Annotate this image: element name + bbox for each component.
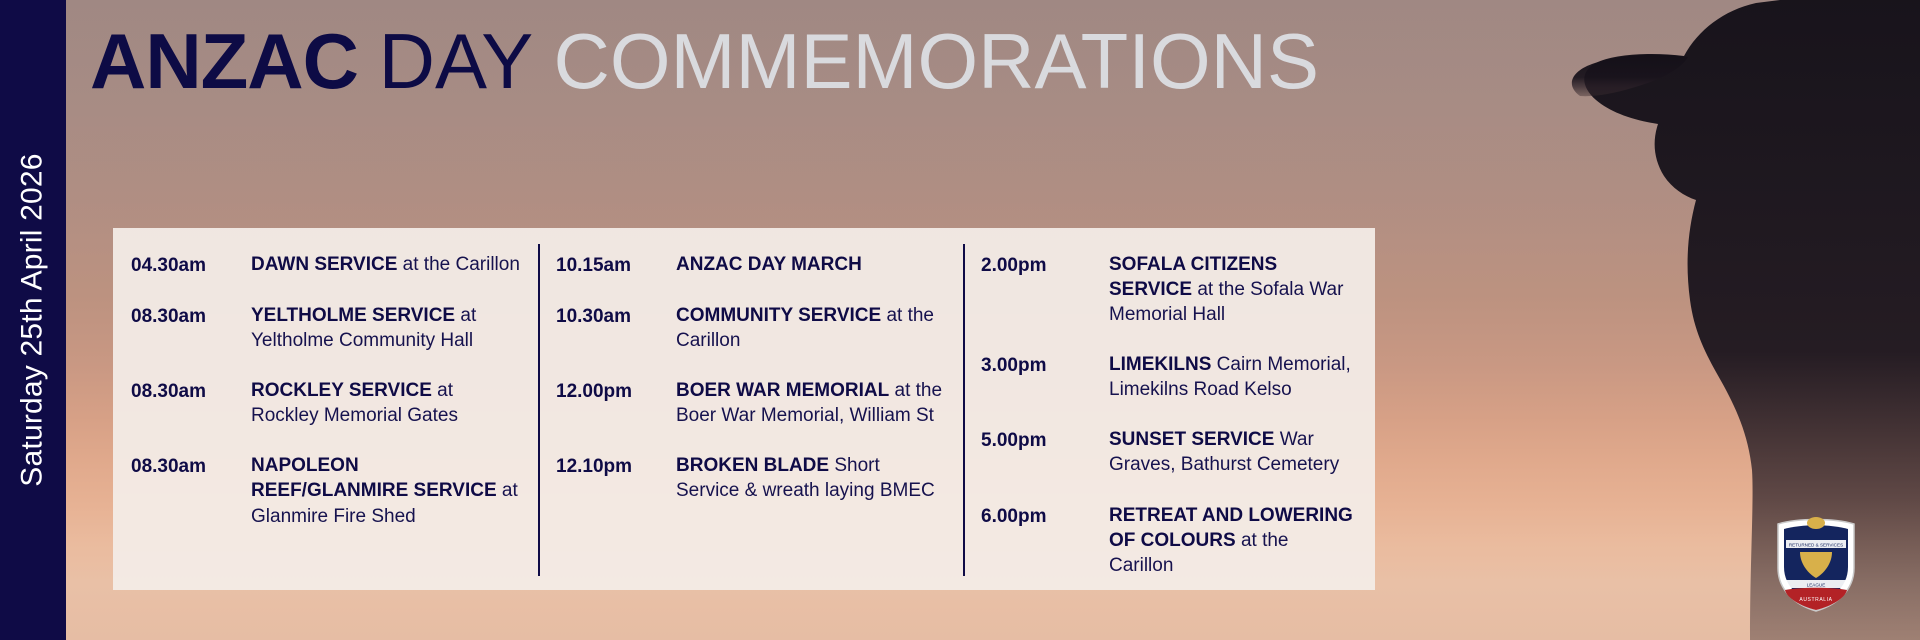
row-description: NAPOLEON REEF/GLANMIRE SERVICE at Glanmi… xyxy=(251,453,520,528)
schedule-row: 3.00pm LIMEKILNS Cairn Memorial, Limekil… xyxy=(981,352,1357,402)
title-commemorations: COMMEMORATIONS xyxy=(554,17,1320,105)
badge-crown-icon xyxy=(1807,517,1825,529)
row-title: BOER WAR MEMORIAL xyxy=(676,380,889,401)
schedule-row: 6.00pm RETREAT AND LOWERING OF COLOURS a… xyxy=(981,503,1357,578)
schedule-row: 08.30am NAPOLEON REEF/GLANMIRE SERVICE a… xyxy=(131,453,520,528)
schedule-column-2: 10.15am ANZAC DAY MARCH 10.30am COMMUNIT… xyxy=(538,252,963,574)
schedule-row: 5.00pm SUNSET SERVICE War Graves, Bathur… xyxy=(981,427,1357,477)
schedule-column-1: 04.30am DAWN SERVICE at the Carillon 08.… xyxy=(113,252,538,574)
row-detail: at the Carillon xyxy=(397,254,520,275)
schedule-row: 10.30am COMMUNITY SERVICE at the Carillo… xyxy=(556,303,945,353)
date-strip: Saturday 25th April 2026 xyxy=(0,0,66,640)
row-title: RETREAT AND LOWERING OF COLOURS xyxy=(1109,505,1353,551)
schedule-row: 10.15am ANZAC DAY MARCH xyxy=(556,252,945,278)
row-description: SUNSET SERVICE War Graves, Bathurst Ceme… xyxy=(1109,427,1357,477)
row-title: BROKEN BLADE xyxy=(676,455,829,476)
title-day: DAY xyxy=(379,17,554,105)
row-description: ANZAC DAY MARCH xyxy=(676,252,945,278)
row-description: DAWN SERVICE at the Carillon xyxy=(251,252,520,278)
row-title: YELTHOLME SERVICE xyxy=(251,305,455,326)
row-description: LIMEKILNS Cairn Memorial, Limekilns Road… xyxy=(1109,352,1357,402)
date-label: Saturday 25th April 2026 xyxy=(16,153,50,486)
row-time: 5.00pm xyxy=(981,427,1109,477)
row-description: RETREAT AND LOWERING OF COLOURS at the C… xyxy=(1109,503,1357,578)
row-time: 10.15am xyxy=(556,252,676,278)
badge-top-text: RETURNED & SERVICES xyxy=(1789,542,1843,547)
row-description: BOER WAR MEMORIAL at the Boer War Memori… xyxy=(676,378,945,428)
schedule-row: 12.10pm BROKEN BLADE Short Service & wre… xyxy=(556,453,945,503)
row-time: 08.30am xyxy=(131,378,251,428)
schedule-row: 04.30am DAWN SERVICE at the Carillon xyxy=(131,252,520,278)
row-time: 6.00pm xyxy=(981,503,1109,578)
row-title: ROCKLEY SERVICE xyxy=(251,380,432,401)
row-title: COMMUNITY SERVICE xyxy=(676,305,881,326)
row-title: SUNSET SERVICE xyxy=(1109,429,1274,450)
row-time: 12.10pm xyxy=(556,453,676,503)
column-divider xyxy=(538,244,540,576)
row-title: DAWN SERVICE xyxy=(251,254,397,275)
row-time: 08.30am xyxy=(131,303,251,353)
row-title: ANZAC DAY MARCH xyxy=(676,254,862,275)
row-title: LIMEKILNS xyxy=(1109,354,1211,375)
badge-bottom-text: AUSTRALIA xyxy=(1799,597,1832,603)
row-time: 10.30am xyxy=(556,303,676,353)
schedule-panel: 04.30am DAWN SERVICE at the Carillon 08.… xyxy=(113,228,1375,590)
row-time: 12.00pm xyxy=(556,378,676,428)
schedule-row: 12.00pm BOER WAR MEMORIAL at the Boer Wa… xyxy=(556,378,945,428)
column-divider xyxy=(963,244,965,576)
row-description: ROCKLEY SERVICE at Rockley Memorial Gate… xyxy=(251,378,520,428)
row-description: COMMUNITY SERVICE at the Carillon xyxy=(676,303,945,353)
row-description: SOFALA CITIZENS SERVICE at the Sofala Wa… xyxy=(1109,252,1357,327)
page-title: ANZAC DAY COMMEMORATIONS xyxy=(90,22,1319,100)
schedule-row: 08.30am ROCKLEY SERVICE at Rockley Memor… xyxy=(131,378,520,428)
schedule-column-3: 2.00pm SOFALA CITIZENS SERVICE at the So… xyxy=(963,252,1375,574)
row-title: NAPOLEON REEF/GLANMIRE SERVICE xyxy=(251,455,497,501)
schedule-row: 2.00pm SOFALA CITIZENS SERVICE at the So… xyxy=(981,252,1357,327)
title-anzac: ANZAC xyxy=(90,17,379,105)
row-description: YELTHOLME SERVICE at Yeltholme Community… xyxy=(251,303,520,353)
anzac-day-banner: Saturday 25th April 2026 ANZAC DAY COMME… xyxy=(0,0,1920,640)
row-time: 2.00pm xyxy=(981,252,1109,327)
row-time: 3.00pm xyxy=(981,352,1109,402)
rsl-australia-badge: RETURNED & SERVICES LEAGUE AUSTRALIA xyxy=(1772,510,1860,614)
row-time: 04.30am xyxy=(131,252,251,278)
badge-mid-text: LEAGUE xyxy=(1807,582,1826,587)
row-time: 08.30am xyxy=(131,453,251,528)
row-description: BROKEN BLADE Short Service & wreath layi… xyxy=(676,453,945,503)
schedule-row: 08.30am YELTHOLME SERVICE at Yeltholme C… xyxy=(131,303,520,353)
